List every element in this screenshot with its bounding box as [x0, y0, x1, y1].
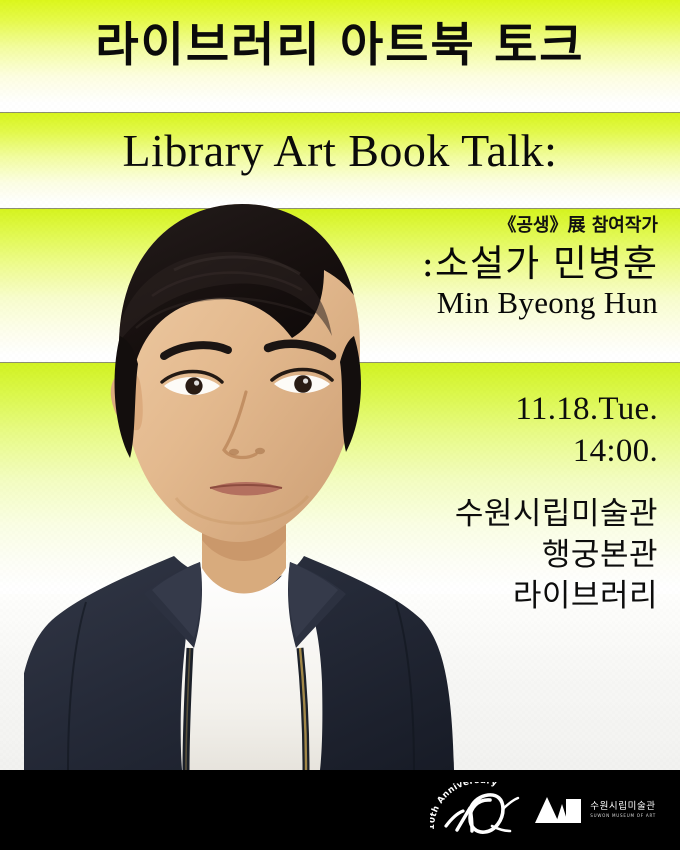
venue-line-2: 행궁본관 [455, 535, 658, 576]
poster-title-english: Library Art Book Talk: [0, 128, 680, 174]
svg-text:10th Anniversary: 10th Anniversary [430, 782, 499, 830]
venue-line-3: 라이브러리 [455, 576, 658, 617]
artist-name-english: Min Byeong Hun [422, 287, 658, 320]
schedule-venue-block: 11.18.Tue. 14:00. 수원시립미술관 행궁본관 라이브러리 [455, 388, 658, 617]
anniversary-mark: 10th Anniversary [430, 782, 526, 838]
museum-symbol-icon [535, 793, 581, 827]
museum-wordmark: 수원시립미술관 SUWON MUSEUM OF ART [590, 802, 656, 819]
logo-lockup: 10th Anniversary [430, 782, 656, 838]
artist-info-block: 《공생》展 참여작가 :소설가 민병훈 Min Byeong Hun [422, 216, 658, 320]
event-time: 14:00. [455, 430, 658, 472]
museum-name-english: SUWON MUSEUM OF ART [590, 814, 656, 818]
venue-line-1: 수원시립미술관 [455, 494, 658, 535]
footer-bar: 10th Anniversary [0, 770, 680, 850]
venue-lines: 수원시립미술관 행궁본관 라이브러리 [455, 494, 658, 617]
poster-canvas: 라이브러리 아트북 토크 Library Art Book Talk: 《공생》… [0, 0, 680, 850]
museum-name-korean: 수원시립미술관 [590, 802, 656, 812]
exhibition-credit-line: 《공생》展 참여작가 [422, 216, 658, 236]
artist-portrait [24, 196, 454, 770]
portrait-head [98, 196, 376, 542]
anniversary-text-path: 10th Anniversary [430, 782, 499, 830]
event-date: 11.18.Tue. [455, 388, 658, 430]
poster-title-korean: 라이브러리 아트북 토크 [0, 22, 680, 69]
artist-name-korean: :소설가 민병훈 [422, 242, 658, 286]
